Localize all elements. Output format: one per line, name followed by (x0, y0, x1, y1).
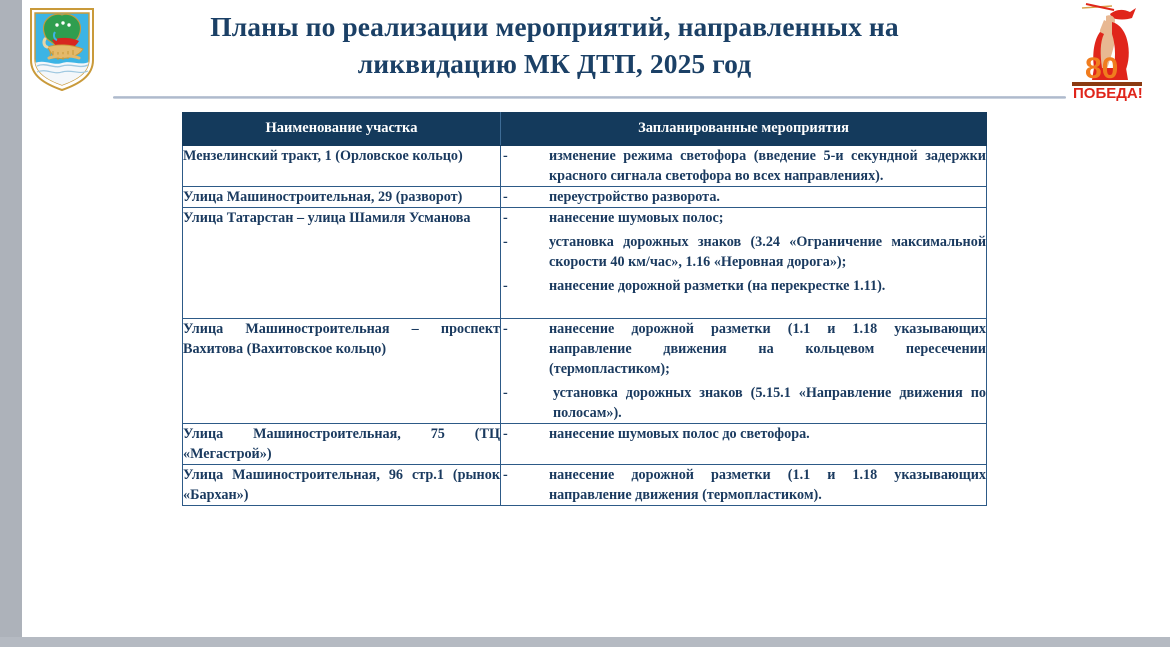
slide-left-frame-bar (0, 0, 22, 637)
measure-item: -нанесение шумовых полос; (501, 208, 986, 228)
cell-measures: -нанесение дорожной разметки (1.1 и 1.18… (501, 318, 987, 423)
measures-list: -изменение режима светофора (введение 5-… (501, 146, 986, 186)
bullet-dash-icon: - (503, 319, 508, 339)
measures-list: -нанесение дорожной разметки (1.1 и 1.18… (501, 465, 986, 505)
table-row: Улица Татарстан – улица Шамиля Усманова … (183, 207, 987, 318)
measures-list: -нанесение дорожной разметки (1.1 и 1.18… (501, 319, 986, 423)
table-header-row: Наименование участка Запланированные мер… (183, 113, 987, 146)
victory-80-anniversary-logo: 80 ПОБЕДА! (1060, 2, 1148, 102)
cell-site: Улица Машиностроительная, 75 (ТЦ «Мегаст… (183, 423, 501, 464)
title-divider-rule (113, 96, 1066, 99)
cell-measures: -нанесение дорожной разметки (1.1 и 1.18… (501, 464, 987, 505)
bullet-dash-icon: - (503, 187, 508, 207)
plans-table: Наименование участка Запланированные мер… (182, 112, 987, 506)
city-coat-of-arms-icon (27, 6, 97, 92)
bullet-dash-icon: - (503, 465, 508, 485)
measure-item: -установка дорожных знаков (5.15.1 «Напр… (501, 383, 986, 423)
measure-item: -установка дорожных знаков (3.24 «Ограни… (501, 232, 986, 272)
svg-text:ПОБЕДА!: ПОБЕДА! (1073, 85, 1143, 102)
slide-canvas: Планы по реализации мероприятий, направл… (22, 0, 1170, 637)
bullet-dash-icon: - (503, 424, 508, 444)
table-row: Улица Машиностроительная, 29 (разворот) … (183, 186, 987, 207)
measure-text: установка дорожных знаков (5.15.1 «Напра… (553, 385, 986, 421)
table-body: Мензелинский тракт, 1 (Орловское кольцо)… (183, 145, 987, 505)
measures-list: -переустройство разворота. (501, 187, 986, 207)
column-header-measures: Запланированные мероприятия (501, 113, 987, 146)
measures-list: -нанесение шумовых полос; -установка дор… (501, 208, 986, 296)
cell-measures: -изменение режима светофора (введение 5-… (501, 145, 987, 186)
cell-site: Улица Машиностроительная – проспект Вахи… (183, 318, 501, 423)
measure-text: установка дорожных знаков (3.24 «Огранич… (549, 234, 986, 270)
plans-table-container: Наименование участка Запланированные мер… (182, 112, 986, 506)
measure-text: нанесение шумовых полос; (549, 210, 724, 226)
bullet-dash-icon: - (503, 383, 508, 403)
bullet-dash-icon: - (503, 276, 508, 296)
bullet-dash-icon: - (503, 232, 508, 252)
table-row: Улица Машиностроительная – проспект Вахи… (183, 318, 987, 423)
measure-item: -изменение режима светофора (введение 5-… (501, 146, 986, 186)
cell-measures: -нанесение шумовых полос; -установка дор… (501, 207, 987, 318)
measure-item: -нанесение дорожной разметки (1.1 и 1.18… (501, 465, 986, 505)
cell-measures: -переустройство разворота. (501, 186, 987, 207)
cell-measures: -нанесение шумовых полос до светофора. (501, 423, 987, 464)
slide-header: Планы по реализации мероприятий, направл… (22, 0, 1170, 104)
measure-text: нанесение дорожной разметки (1.1 и 1.18 … (549, 321, 986, 377)
table-row: Улица Машиностроительная, 75 (ТЦ «Мегаст… (183, 423, 987, 464)
measure-text: нанесение дорожной разметки (1.1 и 1.18 … (549, 467, 986, 503)
table-row: Улица Машиностроительная, 96 стр.1 (рыно… (183, 464, 987, 505)
cell-site: Улица Машиностроительная, 29 (разворот) (183, 186, 501, 207)
measure-text: переустройство разворота. (549, 189, 720, 205)
slide-title-line-2: ликвидацию МК ДТП, 2025 год (132, 45, 977, 82)
measure-item: -переустройство разворота. (501, 187, 986, 207)
measure-text: нанесение шумовых полос до светофора. (549, 426, 810, 442)
cell-site: Улица Татарстан – улица Шамиля Усманова (183, 207, 501, 318)
measure-text: нанесение дорожной разметки (на перекрес… (549, 278, 885, 294)
measure-text: изменение режима светофора (введение 5-и… (549, 148, 986, 184)
column-header-site: Наименование участка (183, 113, 501, 146)
cell-site: Улица Машиностроительная, 96 стр.1 (рыно… (183, 464, 501, 505)
table-row: Мензелинский тракт, 1 (Орловское кольцо)… (183, 145, 987, 186)
bullet-dash-icon: - (503, 208, 508, 228)
slide-bottom-frame-bar (0, 637, 1170, 647)
measure-item: -нанесение дорожной разметки (на перекре… (501, 276, 986, 296)
slide-title: Планы по реализации мероприятий, направл… (132, 8, 977, 82)
cell-site: Мензелинский тракт, 1 (Орловское кольцо) (183, 145, 501, 186)
svg-text:80: 80 (1085, 52, 1118, 85)
measure-item: -нанесение шумовых полос до светофора. (501, 424, 986, 444)
measure-item: -нанесение дорожной разметки (1.1 и 1.18… (501, 319, 986, 379)
slide-title-line-1: Планы по реализации мероприятий, направл… (132, 8, 977, 45)
bullet-dash-icon: - (503, 146, 508, 166)
measures-list: -нанесение шумовых полос до светофора. (501, 424, 986, 444)
